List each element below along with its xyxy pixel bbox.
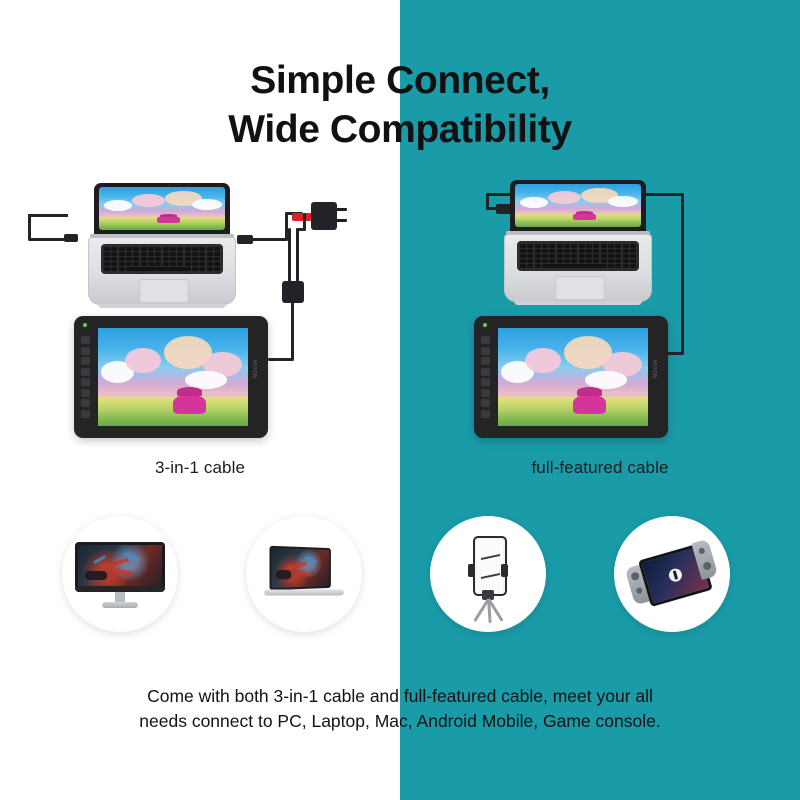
compat-thumb-phone bbox=[430, 516, 546, 632]
cable-splitter bbox=[282, 281, 304, 303]
tablet-brand-mark: HUION bbox=[251, 360, 257, 378]
compat-thumb-game-console bbox=[614, 516, 730, 632]
cable-splitter-feed-a bbox=[288, 228, 291, 282]
footer-line-2: needs connect to PC, Laptop, Mac, Androi… bbox=[60, 709, 740, 734]
tablet-power-led bbox=[483, 323, 487, 327]
laptop-right bbox=[504, 180, 652, 305]
laptop-base bbox=[88, 237, 236, 305]
game-artwork bbox=[78, 545, 162, 589]
compat-thumb-laptop bbox=[246, 516, 362, 632]
dpad-left bbox=[636, 587, 643, 594]
wallpaper-landscape bbox=[99, 187, 225, 230]
tablet-shortcut-keys bbox=[481, 336, 490, 418]
cable-to-tablet-elbow bbox=[268, 358, 294, 361]
adapter-prong-top bbox=[336, 208, 347, 211]
usb-plug-right bbox=[237, 235, 253, 244]
tablet-screen bbox=[98, 328, 248, 426]
phone-doodle-art bbox=[481, 554, 500, 579]
tablet-shortcut-keys bbox=[81, 336, 90, 418]
power-adapter bbox=[311, 202, 337, 230]
caption-right: full-featured cable bbox=[460, 458, 740, 478]
laptop-base bbox=[263, 590, 345, 596]
page-title: Simple Connect, Wide Compatibility bbox=[0, 56, 800, 154]
cable-right-vertical bbox=[681, 193, 684, 355]
usb-plug-left bbox=[64, 234, 78, 242]
laptop-lid bbox=[94, 183, 230, 235]
tablet-power-led bbox=[83, 323, 87, 327]
caption-left: 3-in-1 cable bbox=[60, 458, 340, 478]
console-logo bbox=[667, 567, 683, 583]
laptop-foot bbox=[514, 301, 642, 305]
game-console-icon bbox=[623, 539, 721, 609]
laptop-trackpad bbox=[555, 276, 605, 300]
cable-splitter-feed-b bbox=[296, 228, 299, 282]
laptop-trackpad bbox=[139, 279, 189, 303]
laptop-screen bbox=[99, 187, 225, 230]
wallpaper-landscape bbox=[515, 184, 641, 227]
monitor-base bbox=[102, 602, 138, 608]
tablet-wallpaper bbox=[98, 328, 248, 426]
title-line-2: Wide Compatibility bbox=[0, 105, 800, 154]
laptop-left bbox=[88, 183, 236, 308]
cable-right-run bbox=[252, 238, 288, 241]
cable-left-run bbox=[28, 238, 66, 241]
product-feature-graphic: Simple Connect, Wide Compatibility bbox=[0, 0, 800, 800]
cable-to-tablet bbox=[291, 302, 294, 360]
cable-left-down bbox=[28, 214, 31, 240]
drawing-tablet-left: HUION bbox=[74, 316, 268, 438]
phone-clamp-left bbox=[468, 564, 475, 577]
footer-line-1: Come with both 3-in-1 cable and full-fea… bbox=[60, 684, 740, 709]
joystick-right bbox=[702, 561, 712, 571]
adapter-prong-bottom bbox=[336, 219, 347, 222]
laptop-base bbox=[504, 234, 652, 302]
game-artwork bbox=[272, 548, 330, 588]
monitor-icon bbox=[75, 542, 165, 592]
phone-clamp-right bbox=[501, 564, 508, 577]
laptop-keyboard bbox=[101, 244, 223, 274]
laptop-icon bbox=[269, 546, 330, 591]
compat-thumb-monitor bbox=[62, 516, 178, 632]
tablet-brand-mark: HUION bbox=[651, 360, 657, 378]
tablet-screen bbox=[498, 328, 648, 426]
laptop-keyboard bbox=[517, 241, 639, 271]
laptop-screen bbox=[515, 184, 641, 227]
laptop-lid bbox=[510, 180, 646, 232]
buttons-right bbox=[698, 547, 705, 554]
laptop-foot bbox=[98, 304, 226, 308]
cable-left-loop bbox=[28, 214, 68, 217]
phone-screen bbox=[477, 540, 503, 592]
footer-description: Come with both 3-in-1 cable and full-fea… bbox=[60, 684, 740, 735]
joystick-left bbox=[630, 571, 640, 581]
title-line-1: Simple Connect, bbox=[0, 56, 800, 105]
drawing-tablet-right: HUION bbox=[474, 316, 668, 438]
tablet-wallpaper bbox=[498, 328, 648, 426]
